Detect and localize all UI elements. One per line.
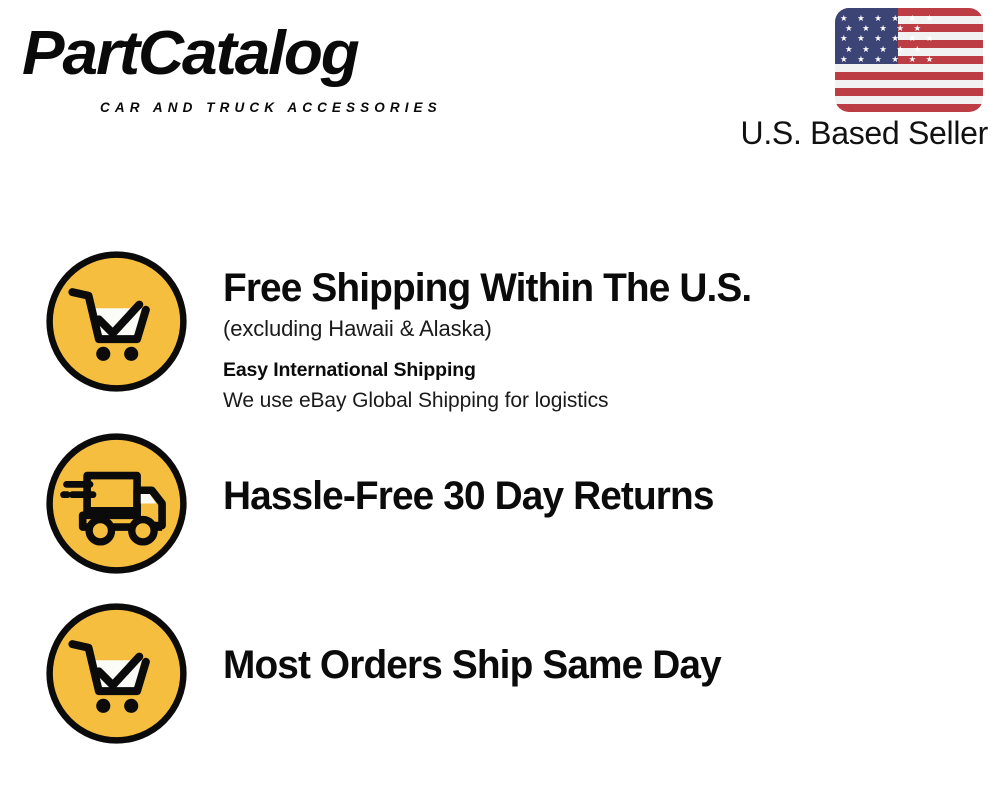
feature-text-block: Hassle-Free 30 Day Returns <box>223 473 963 520</box>
flag-star-row-4: ★ ★ ★ ★ ★ <box>840 45 898 55</box>
brand-tagline: CAR AND TRUCK ACCESSORIES <box>100 100 442 116</box>
feature-text-block: Most Orders Ship Same Day <box>223 642 963 689</box>
feature-sub-strong: Easy International Shipping <box>223 355 963 386</box>
feature-headline: Free Shipping Within The U.S. <box>223 265 941 312</box>
feature-headline: Hassle-Free 30 Day Returns <box>223 473 941 520</box>
delivery-truck-icon <box>43 430 190 577</box>
feature-headline: Most Orders Ship Same Day <box>223 642 941 689</box>
list-item: Hassle-Free 30 Day Returns <box>0 415 1000 587</box>
us-flag-icon: ★ ★ ★ ★ ★ ★ ★ ★ ★ ★ ★ ★ ★ ★ ★ ★ ★ ★ ★ ★ … <box>835 8 983 112</box>
list-item: Free Shipping Within The U.S. (excluding… <box>0 233 1000 405</box>
feature-list: Free Shipping Within The U.S. (excluding… <box>0 185 1000 800</box>
list-item: Most Orders Ship Same Day <box>0 585 1000 757</box>
page-header: PartCatalog CAR AND TRUCK ACCESSORIES ★ … <box>0 0 1000 185</box>
us-based-seller-badge: ★ ★ ★ ★ ★ ★ ★ ★ ★ ★ ★ ★ ★ ★ ★ ★ ★ ★ ★ ★ … <box>713 8 988 152</box>
feature-text-block: Free Shipping Within The U.S. (excluding… <box>223 265 963 416</box>
flag-star-row-2: ★ ★ ★ ★ ★ <box>840 24 898 34</box>
us-based-seller-label: U.S. Based Seller <box>713 114 988 152</box>
flag-star-row-3: ★ ★ ★ ★ ★ ★ <box>840 34 898 44</box>
feature-subline: (excluding Hawaii & Alaska) <box>223 312 963 345</box>
flag-star-row-5: ★ ★ ★ ★ ★ ★ <box>840 55 898 65</box>
shopping-cart-check-icon <box>43 600 190 747</box>
feature-sub-plain: We use eBay Global Shipping for logistic… <box>223 386 963 416</box>
flag-stars: ★ ★ ★ ★ ★ ★ ★ ★ ★ ★ ★ ★ ★ ★ ★ ★ ★ ★ ★ ★ … <box>835 8 898 64</box>
brand-logo[interactable]: PartCatalog CAR AND TRUCK ACCESSORIES <box>22 16 492 116</box>
flag-star-row-1: ★ ★ ★ ★ ★ ★ <box>840 14 898 24</box>
shopping-cart-check-icon <box>43 248 190 395</box>
brand-wordmark: PartCatalog <box>22 16 358 92</box>
